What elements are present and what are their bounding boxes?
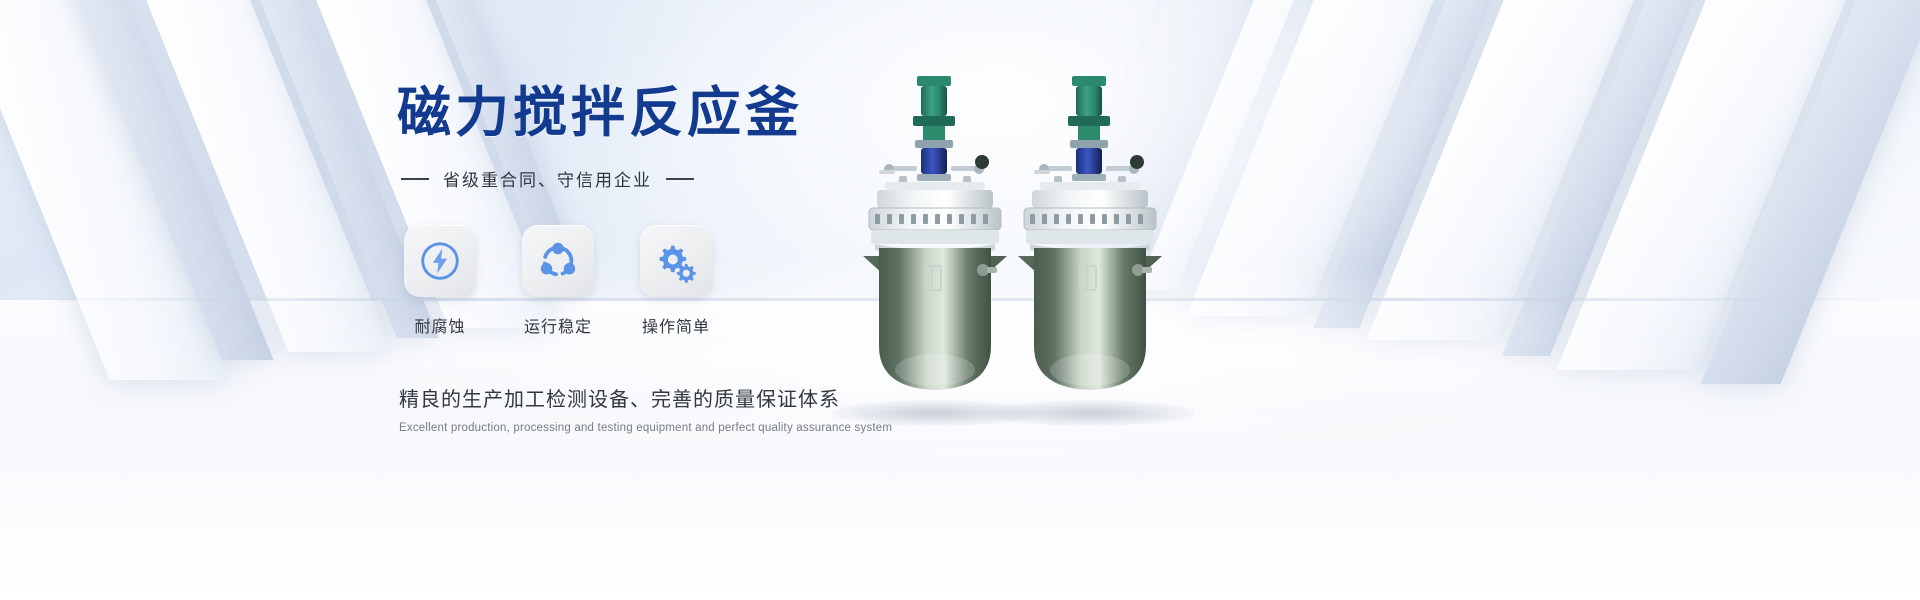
- feature-item-corrosion-resistant[interactable]: 耐腐蚀: [401, 225, 479, 337]
- feature-item-simple-operation[interactable]: 操作简单: [637, 225, 715, 337]
- tagline-chinese: 精良的生产加工检测设备、完善的质量保证体系: [399, 383, 895, 412]
- gears-icon: [653, 238, 699, 284]
- tagline-english: Excellent production, processing and tes…: [399, 422, 895, 434]
- banner-subtitle: 省级重合同、守信用企业: [443, 166, 652, 191]
- feature-icon-card: [404, 225, 476, 297]
- feature-icon-card: [522, 225, 594, 297]
- rule-left-icon: [401, 178, 429, 180]
- feature-label: 操作简单: [637, 313, 715, 337]
- banner-content: 磁力搅拌反应釜 省级重合同、守信用企业 耐腐蚀: [395, 86, 895, 434]
- feature-label: 耐腐蚀: [401, 313, 479, 337]
- lightning-bolt-circle-icon: [417, 238, 463, 284]
- feature-list: 耐腐蚀 运行稳定: [401, 225, 895, 337]
- subtitle-row: 省级重合同、守信用企业: [401, 166, 895, 191]
- feature-label: 运行稳定: [519, 313, 597, 337]
- feature-icon-card: [640, 225, 712, 297]
- product-banner: 磁力搅拌反应釜 省级重合同、守信用企业 耐腐蚀: [0, 0, 1920, 600]
- network-share-icon: [535, 238, 581, 284]
- feature-item-stable-operation[interactable]: 运行稳定: [519, 225, 597, 337]
- rule-right-icon: [666, 178, 694, 180]
- product-image-reactor-left: [855, 70, 1015, 420]
- product-image-reactor-right: [1010, 70, 1170, 420]
- page-title: 磁力搅拌反应釜: [397, 86, 895, 140]
